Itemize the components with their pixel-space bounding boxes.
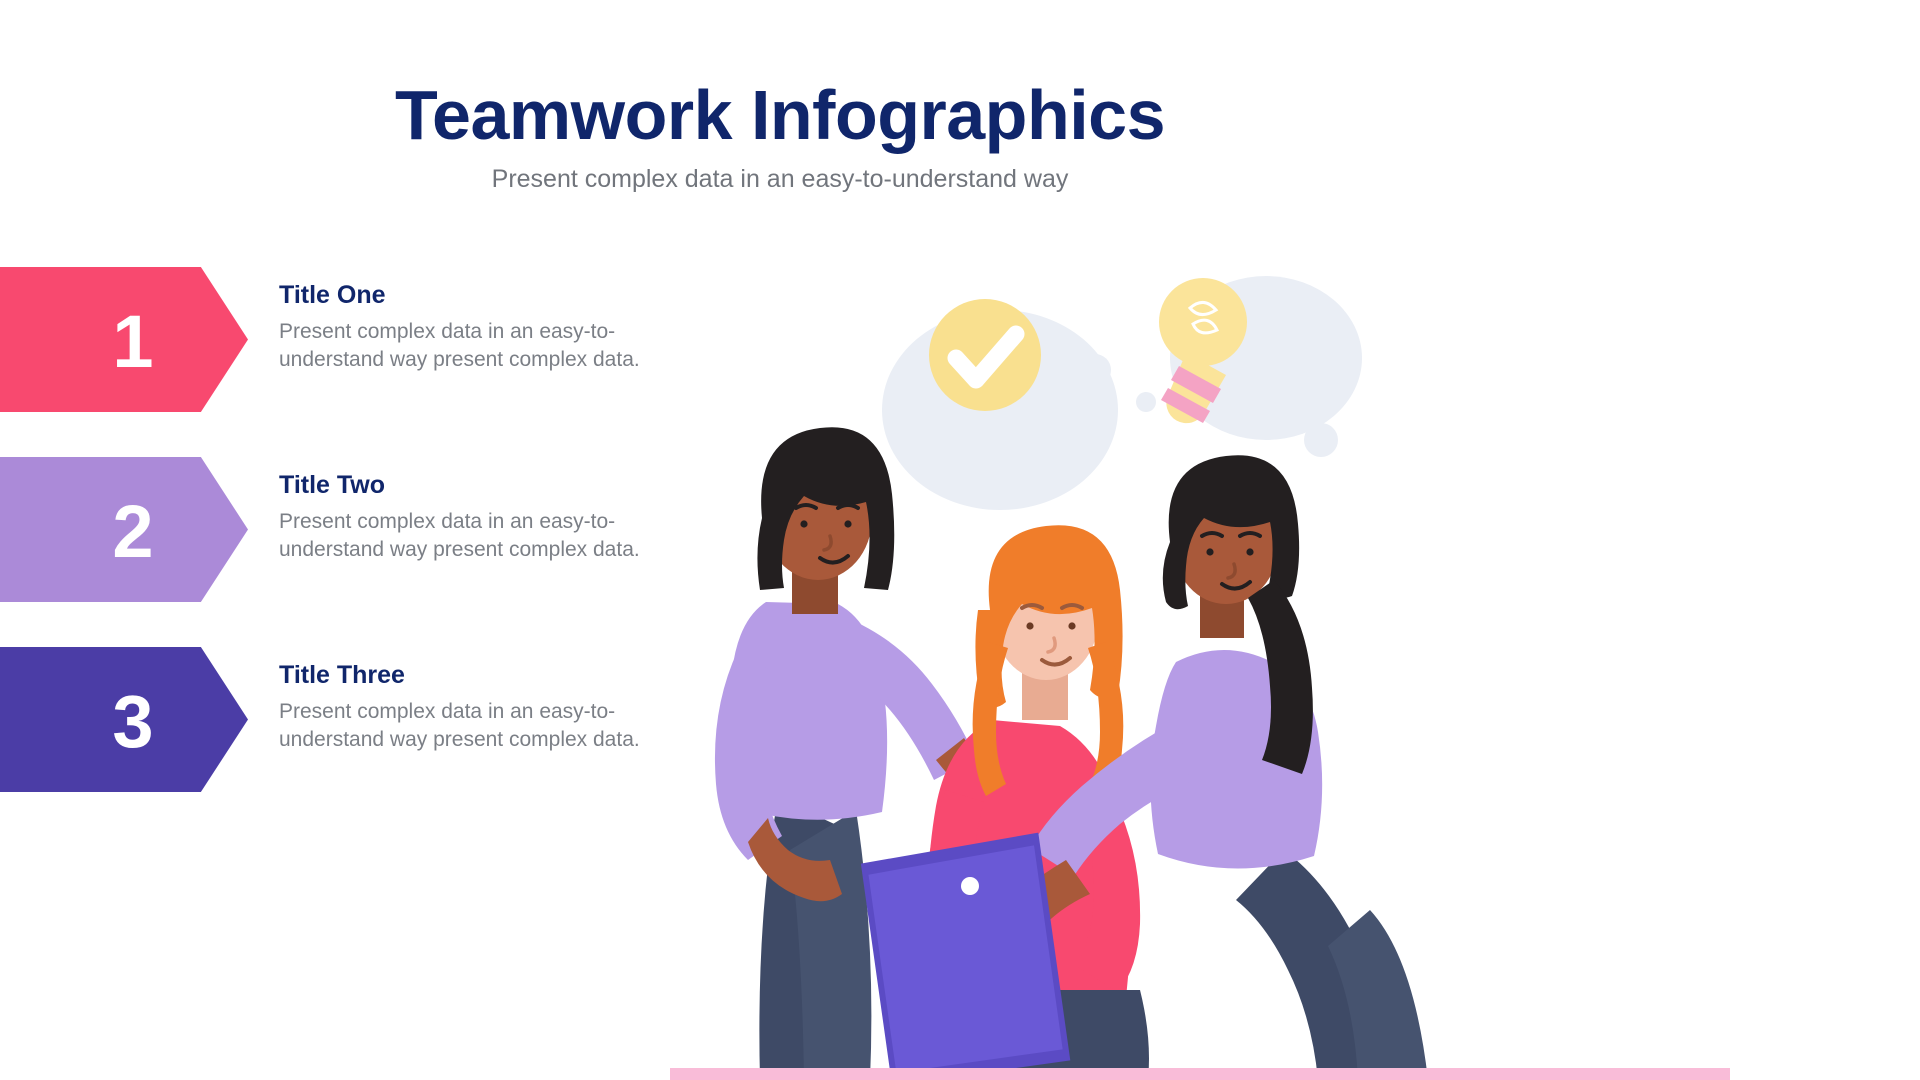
check-circle-icon [929,299,1041,411]
teamwork-illustration [670,250,1730,1080]
arrow-badge-1[interactable]: 1 [0,267,248,412]
arrow-number-2: 2 [112,495,153,569]
item-text-block-2: Title Two Present complex data in an eas… [279,471,649,565]
desk-surface [670,1068,1730,1080]
item-title-2: Title Two [279,471,649,500]
slide-header: Teamwork Infographics Present complex da… [0,78,1560,194]
arrow-badge-2[interactable]: 2 [0,457,248,602]
arrow-badge-3[interactable]: 3 [0,647,248,792]
arrow-number-3: 3 [112,685,153,759]
page-title: Teamwork Infographics [0,78,1560,152]
list-item[interactable]: 3 Title Three Present complex data in an… [0,647,680,837]
item-title-3: Title Three [279,661,649,690]
item-title-1: Title One [279,281,649,310]
item-text-block-1: Title One Present complex data in an eas… [279,281,649,375]
item-text-block-3: Title Three Present complex data in an e… [279,661,649,755]
page-subtitle: Present complex data in an easy-to-under… [0,164,1560,194]
item-body-2: Present complex data in an easy-to-under… [279,508,649,565]
slide-canvas: Teamwork Infographics Present complex da… [0,0,1920,1080]
infographic-item-list: 1 Title One Present complex data in an e… [0,267,680,837]
item-body-1: Present complex data in an easy-to-under… [279,318,649,375]
arrow-number-1: 1 [112,305,153,379]
list-item[interactable]: 1 Title One Present complex data in an e… [0,267,680,457]
list-item[interactable]: 2 Title Two Present complex data in an e… [0,457,680,647]
item-body-3: Present complex data in an easy-to-under… [279,698,649,755]
